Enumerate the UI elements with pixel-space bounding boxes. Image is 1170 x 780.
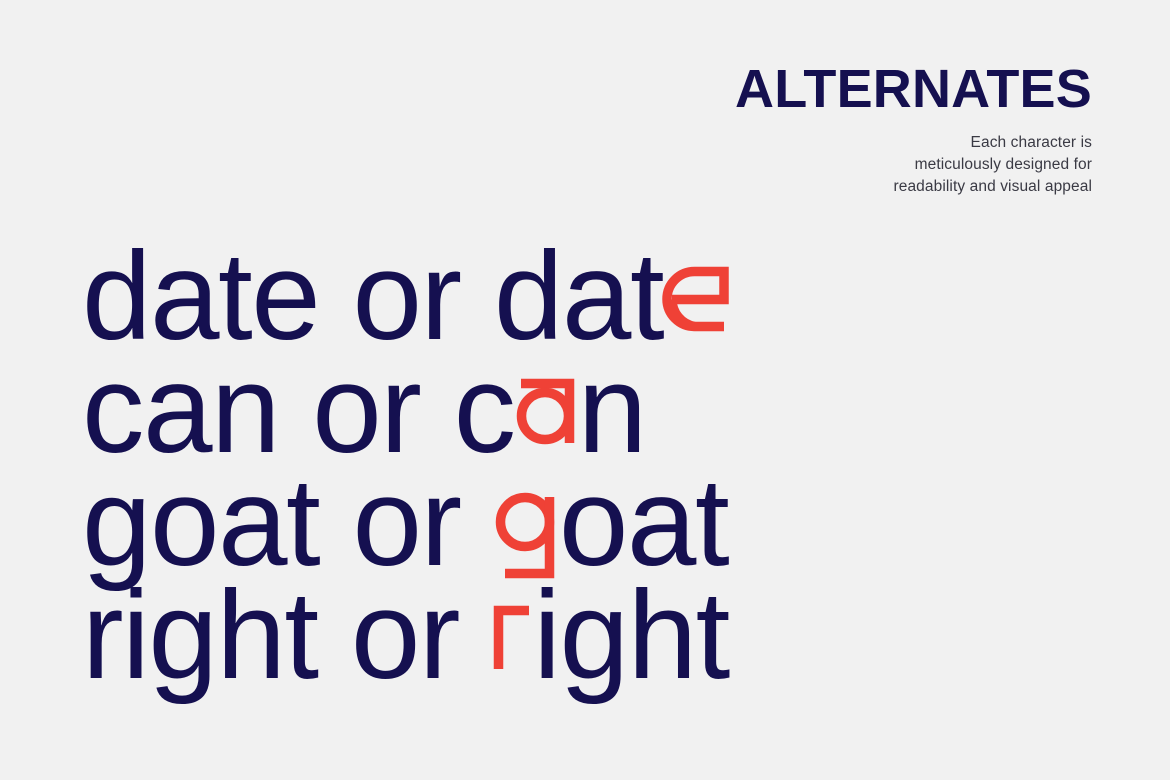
alternate-g-glyph bbox=[495, 460, 559, 585]
specimen-line-goat: goat or oat bbox=[82, 440, 782, 553]
alternate-e-glyph bbox=[664, 234, 728, 359]
alternate-a-glyph bbox=[516, 347, 578, 472]
default-word-right: right bbox=[82, 566, 318, 705]
specimen-line-right: right or ight bbox=[82, 553, 782, 666]
subtitle-line-2: meticulously designed for bbox=[632, 154, 1092, 176]
alternate-word-suffix-right: ight bbox=[533, 566, 729, 705]
specimen-line-date: date or dat bbox=[82, 214, 782, 327]
subtitle-line-3: readability and visual appeal bbox=[632, 176, 1092, 198]
specimen-block: date or dat can or c bbox=[82, 214, 782, 666]
subtitle-line-1: Each character is bbox=[632, 132, 1092, 154]
header-block: ALTERNATES Each character is meticulousl… bbox=[632, 62, 1092, 198]
page-title: ALTERNATES bbox=[632, 62, 1092, 116]
connector-or-4: or bbox=[318, 566, 493, 705]
alternate-r-glyph bbox=[493, 573, 533, 698]
header-subtitle: Each character is meticulously designed … bbox=[632, 132, 1092, 198]
specimen-canvas: ALTERNATES Each character is meticulousl… bbox=[0, 0, 1170, 780]
